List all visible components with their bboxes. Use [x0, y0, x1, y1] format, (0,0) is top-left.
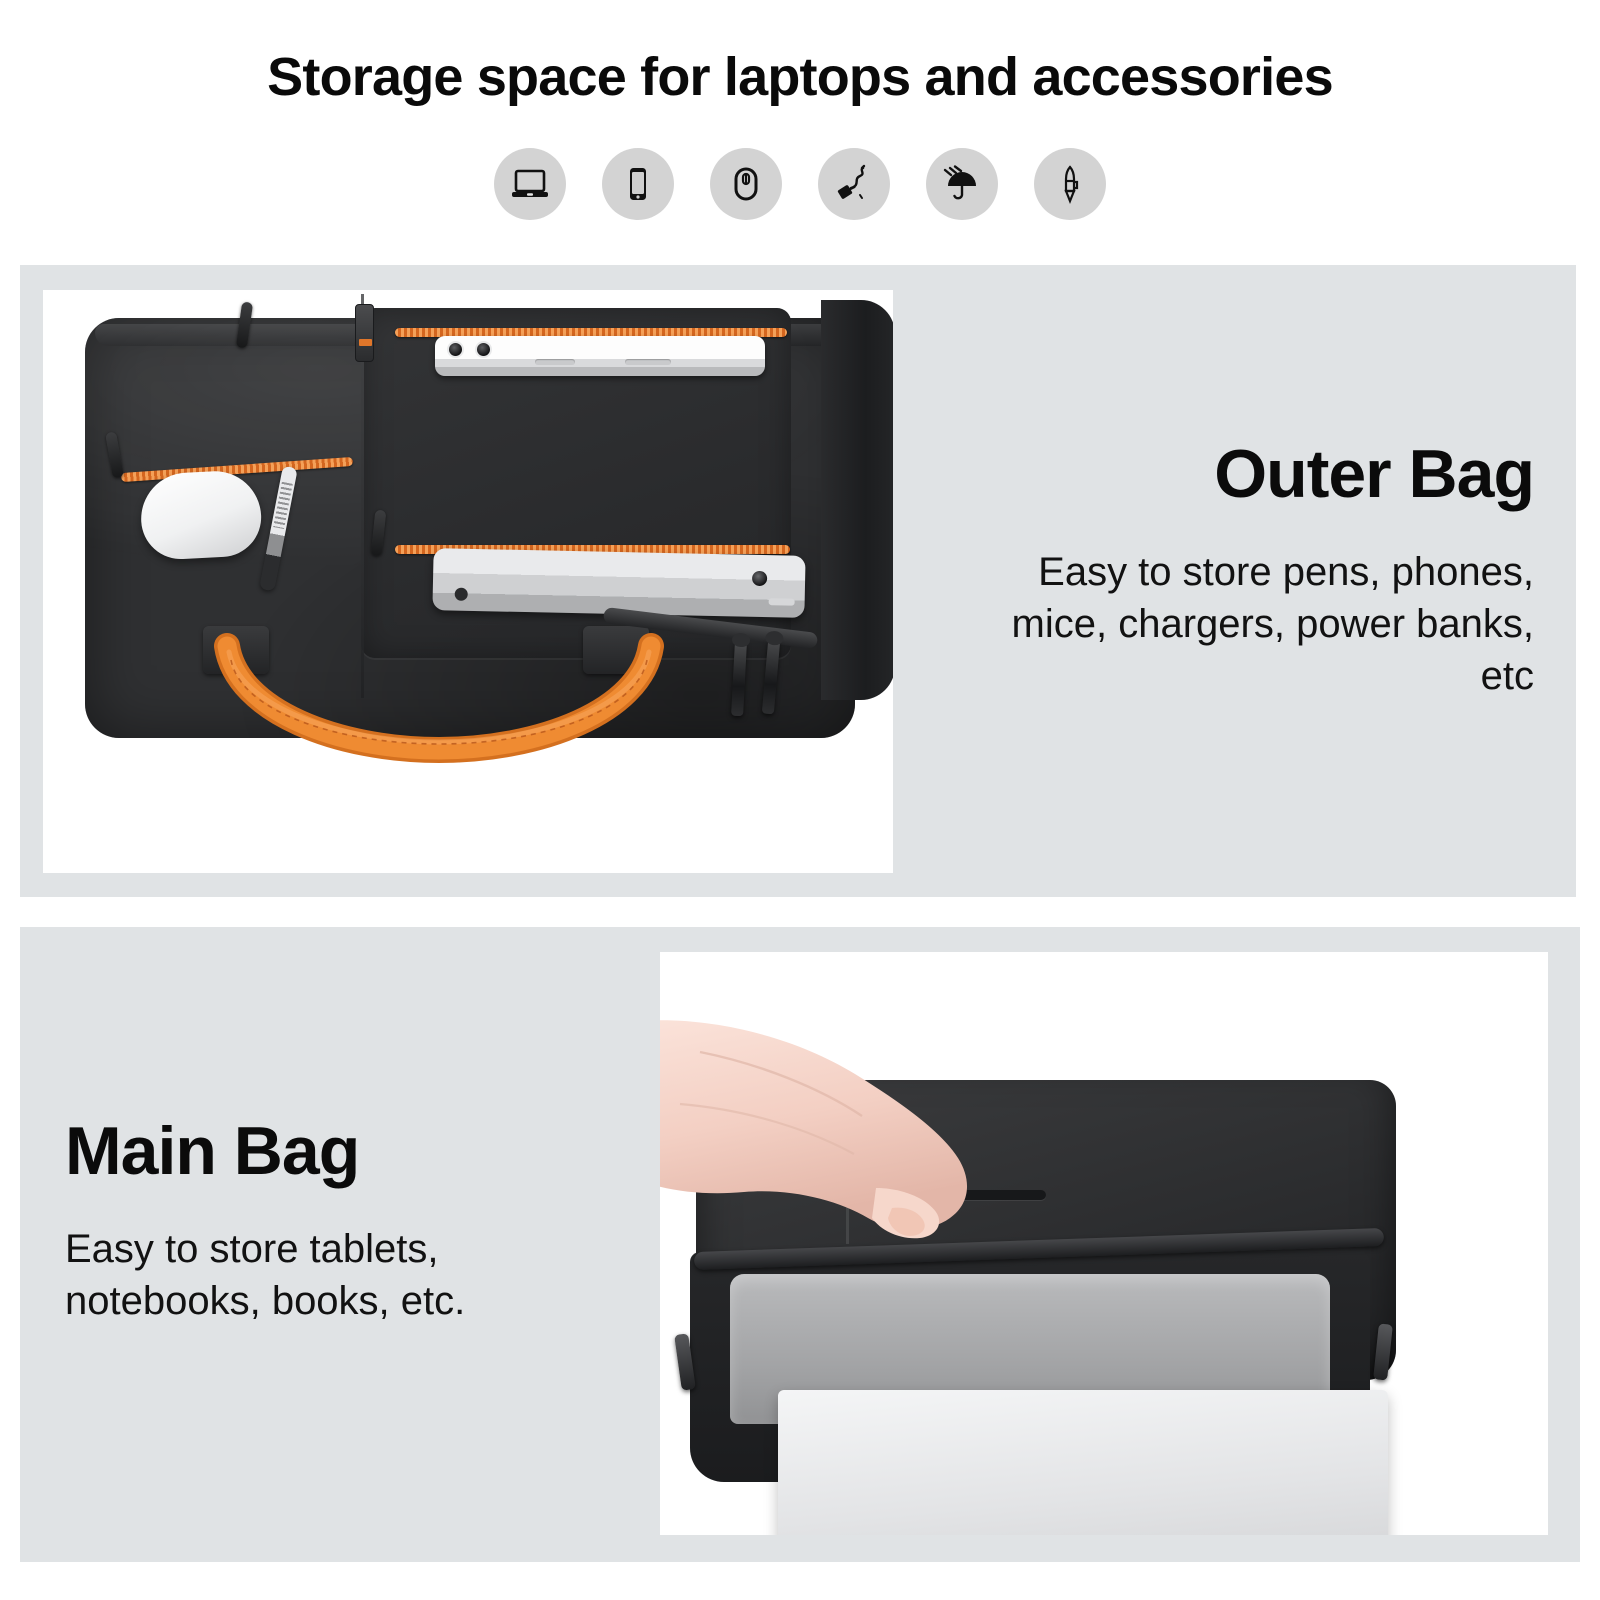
laptop-icon — [494, 148, 566, 220]
charger-icon — [818, 148, 890, 220]
orange-carry-handle — [219, 642, 659, 760]
outer-bag-description: Easy to store pens, phones, mice, charge… — [974, 546, 1534, 702]
infographic-page: Storage space for laptops and accessorie… — [0, 0, 1600, 1600]
umbrella-icon — [926, 148, 998, 220]
mouse-in-pocket — [139, 469, 263, 561]
hand-opening-bag — [660, 1012, 1090, 1312]
main-bag-panel: Main Bag Easy to store tablets, notebook… — [20, 927, 1580, 1562]
outer-bag-photo — [43, 290, 893, 873]
pen-icon — [1034, 148, 1106, 220]
page-title: Storage space for laptops and accessorie… — [0, 46, 1600, 108]
brand-label-tag — [355, 304, 374, 362]
main-bag-photo — [660, 952, 1548, 1535]
feature-icon-row — [0, 148, 1600, 220]
main-bag-text: Main Bag Easy to store tablets, notebook… — [65, 1117, 585, 1327]
tablet-in-pocket — [432, 548, 805, 618]
smartphone-icon — [602, 148, 674, 220]
outer-bag-text: Outer Bag Easy to store pens, phones, mi… — [974, 440, 1534, 702]
laptop-sliding-out — [778, 1390, 1388, 1535]
smartphone-in-pocket — [435, 336, 765, 376]
outer-bag-panel: Outer Bag Easy to store pens, phones, mi… — [20, 265, 1576, 897]
main-bag-heading: Main Bag — [65, 1117, 585, 1185]
outer-bag-heading: Outer Bag — [974, 440, 1534, 508]
bag-side-panel — [821, 300, 893, 700]
main-bag-description: Easy to store tablets, notebooks, books,… — [65, 1223, 585, 1327]
mouse-icon — [710, 148, 782, 220]
